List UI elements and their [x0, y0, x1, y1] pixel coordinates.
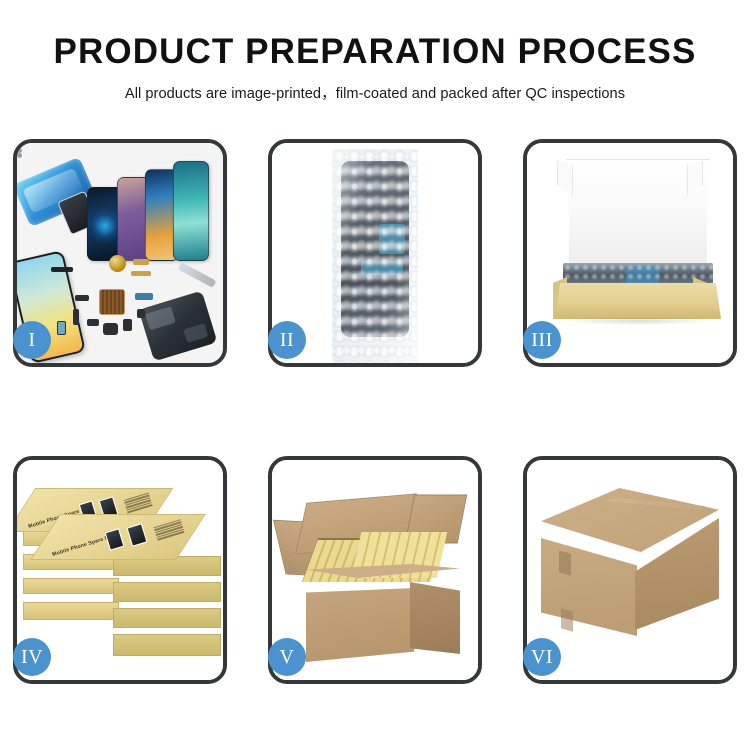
- step-badge-6: VI: [523, 638, 561, 676]
- component-icon: [73, 309, 79, 325]
- step-panel-6: VI: [523, 456, 737, 684]
- tweezers-icon: [177, 262, 216, 288]
- step-panel-3: III: [523, 139, 737, 367]
- step-panel-2: II: [268, 139, 482, 367]
- process-steps-grid: I II: [13, 139, 737, 684]
- step-badge-1: I: [13, 321, 51, 359]
- component-icon: [123, 319, 132, 331]
- page-title: PRODUCT PREPARATION PROCESS: [0, 34, 750, 71]
- flex-cable-icon: [133, 259, 149, 265]
- step-panel-5: V: [268, 456, 482, 684]
- screw-icon: [17, 153, 22, 158]
- box-shadow: [561, 317, 715, 325]
- speaker-icon: [109, 255, 126, 272]
- box-edge: [113, 634, 221, 656]
- carton-front-icon: [541, 538, 637, 636]
- infographic-page: PRODUCT PREPARATION PROCESS All products…: [0, 0, 750, 750]
- phone-screen-icon: [173, 161, 209, 261]
- carton-seam: [561, 608, 573, 631]
- component-icon: [87, 319, 99, 326]
- box-edge: [23, 602, 119, 620]
- step-badge-5: V: [268, 638, 306, 676]
- carton-seam: [559, 550, 571, 575]
- step-panel-1: I: [13, 139, 227, 367]
- box-flap-icon: [557, 161, 573, 195]
- box-edge: [113, 582, 221, 602]
- screw-icon: [17, 143, 22, 148]
- box-edge: [113, 608, 221, 628]
- step-badge-4: IV: [13, 638, 51, 676]
- step-badge-2: II: [268, 321, 306, 359]
- box-edge: [23, 578, 119, 594]
- phone-fan-group: [83, 151, 223, 261]
- component-icon: [137, 309, 145, 318]
- phone-backplate-icon: [139, 291, 218, 362]
- step-panel-4: Mobile Phone Spare Parts Mobile Phone Sp…: [13, 456, 227, 684]
- box-front-icon: [555, 283, 721, 319]
- camera-module-icon: [103, 323, 118, 335]
- carton-front-icon: [306, 588, 414, 662]
- battery-connector-icon: [57, 321, 66, 335]
- carton-side-icon: [410, 582, 460, 654]
- flex-cable-icon: [131, 271, 151, 276]
- step-badge-3: III: [523, 321, 561, 359]
- page-subtitle: All products are image-printed，film-coat…: [0, 82, 750, 103]
- chip-module-icon: [99, 289, 125, 315]
- flex-cable-icon: [135, 293, 153, 300]
- plastic-sheen: [332, 149, 418, 363]
- header: PRODUCT PREPARATION PROCESS All products…: [0, 0, 750, 103]
- earpiece-icon: [51, 267, 73, 272]
- retail-box: Mobile Phone Spare Parts: [45, 514, 191, 560]
- component-icon: [75, 295, 89, 301]
- foam-padding-icon: [569, 201, 707, 271]
